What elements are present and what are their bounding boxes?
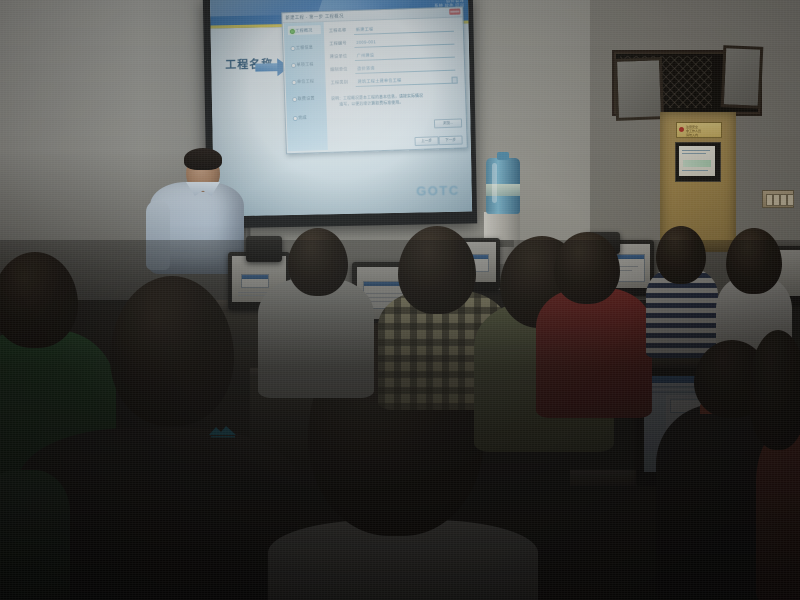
screen-vignette [210, 0, 472, 216]
bottle-highlight [492, 163, 497, 203]
notice-paper [679, 146, 715, 176]
bottle-neck [497, 152, 509, 160]
projection-screen: 广东省建设工程 造价管理 系统 软件 培训 工程名称 新建工程 - 第一步 工程… [210, 0, 472, 216]
window-pane-left [614, 57, 664, 121]
notice-graphic [683, 160, 711, 167]
door-sign-text: 注意安全 非工作人员 请勿入内 [686, 125, 701, 137]
window-pane-right [721, 45, 764, 109]
warning-dot-icon [679, 127, 684, 132]
classroom-photo: 广东省建设工程 造价管理 系统 软件 培训 工程名称 新建工程 - 第一步 工程… [0, 0, 800, 600]
presenter-hair [184, 148, 222, 170]
door-warning-sign: 注意安全 非工作人员 请勿入内 [676, 122, 722, 138]
room-darkness [0, 240, 800, 600]
wall-switch-panel[interactable] [762, 190, 794, 208]
